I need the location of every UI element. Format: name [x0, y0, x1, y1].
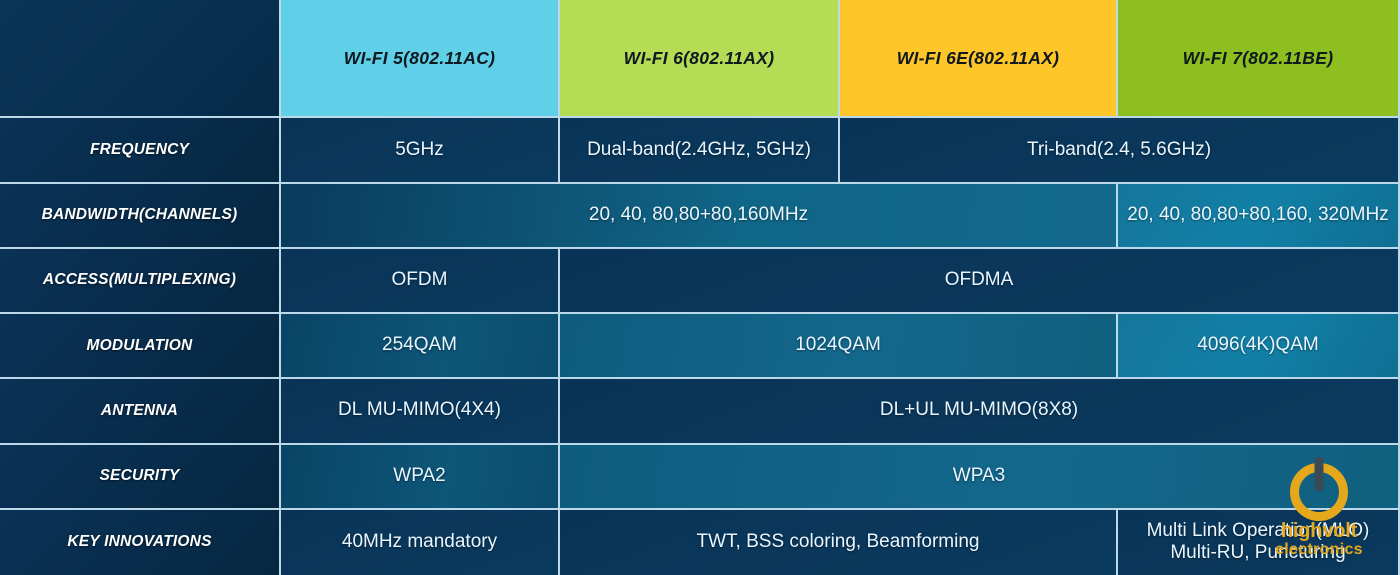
cell-frequency-wifi6e-wifi7: Tri-band(2.4, 5.6GHz): [840, 118, 1400, 183]
cell-security-wifi5: WPA2: [281, 445, 560, 510]
table-row: SECURITY WPA2 WPA3: [0, 445, 1400, 510]
table-row: KEY INNOVATIONS 40MHz mandatory TWT, BSS…: [0, 510, 1400, 575]
table-row: FREQUENCY 5GHz Dual-band(2.4GHz, 5GHz) T…: [0, 118, 1400, 183]
cell-modulation-wifi7: 4096(4K)QAM: [1118, 314, 1400, 379]
cell-modulation-wifi6-wifi6e: 1024QAM: [560, 314, 1118, 379]
column-header-wifi5: WI-FI 5(802.11AC): [281, 0, 560, 118]
table-row: BANDWIDTH(CHANNELS) 20, 40, 80,80+80,160…: [0, 184, 1400, 249]
table-row: MODULATION 254QAM 1024QAM 4096(4K)QAM: [0, 314, 1400, 379]
cell-frequency-wifi6: Dual-band(2.4GHz, 5GHz): [560, 118, 840, 183]
wifi-comparison-table: WI-FI 5(802.11AC) WI-FI 6(802.11AX) WI-F…: [0, 0, 1400, 575]
row-label-key-innovations: KEY INNOVATIONS: [0, 510, 281, 575]
wifi-comparison-table-root: WI-FI 5(802.11AC) WI-FI 6(802.11AX) WI-F…: [0, 0, 1400, 575]
row-label-antenna: ANTENNA: [0, 379, 281, 444]
column-header-wifi6: WI-FI 6(802.11AX): [560, 0, 840, 118]
table-corner-cell: [0, 0, 281, 118]
table-row: ACCESS(MULTIPLEXING) OFDM OFDMA: [0, 249, 1400, 314]
row-label-frequency: FREQUENCY: [0, 118, 281, 183]
cell-access-wifi5: OFDM: [281, 249, 560, 314]
cell-modulation-wifi5: 254QAM: [281, 314, 560, 379]
cell-bandwidth-wifi7: 20, 40, 80,80+80,160, 320MHz: [1118, 184, 1400, 249]
row-label-security: SECURITY: [0, 445, 281, 510]
cell-key-innovations-wifi7: Multi Link Operation(MLO) Multi-RU, Punc…: [1118, 510, 1400, 575]
cell-antenna-wifi6-wifi7: DL+UL MU-MIMO(8X8): [560, 379, 1400, 444]
row-label-access: ACCESS(MULTIPLEXING): [0, 249, 281, 314]
cell-bandwidth-wifi5-wifi6e: 20, 40, 80,80+80,160MHz: [281, 184, 1118, 249]
cell-antenna-wifi5: DL MU-MIMO(4X4): [281, 379, 560, 444]
cell-security-wifi6-wifi7: WPA3: [560, 445, 1400, 510]
cell-access-wifi6-wifi7: OFDMA: [560, 249, 1400, 314]
cell-key-innovations-wifi5: 40MHz mandatory: [281, 510, 560, 575]
column-header-wifi6e: WI-FI 6E(802.11AX): [840, 0, 1118, 118]
row-label-modulation: MODULATION: [0, 314, 281, 379]
table-row: ANTENNA DL MU-MIMO(4X4) DL+UL MU-MIMO(8X…: [0, 379, 1400, 444]
column-header-wifi7: WI-FI 7(802.11BE): [1118, 0, 1400, 118]
row-label-bandwidth: BANDWIDTH(CHANNELS): [0, 184, 281, 249]
cell-frequency-wifi5: 5GHz: [281, 118, 560, 183]
cell-key-innovations-wifi6-wifi6e: TWT, BSS coloring, Beamforming: [560, 510, 1118, 575]
table-header-row: WI-FI 5(802.11AC) WI-FI 6(802.11AX) WI-F…: [0, 0, 1400, 118]
